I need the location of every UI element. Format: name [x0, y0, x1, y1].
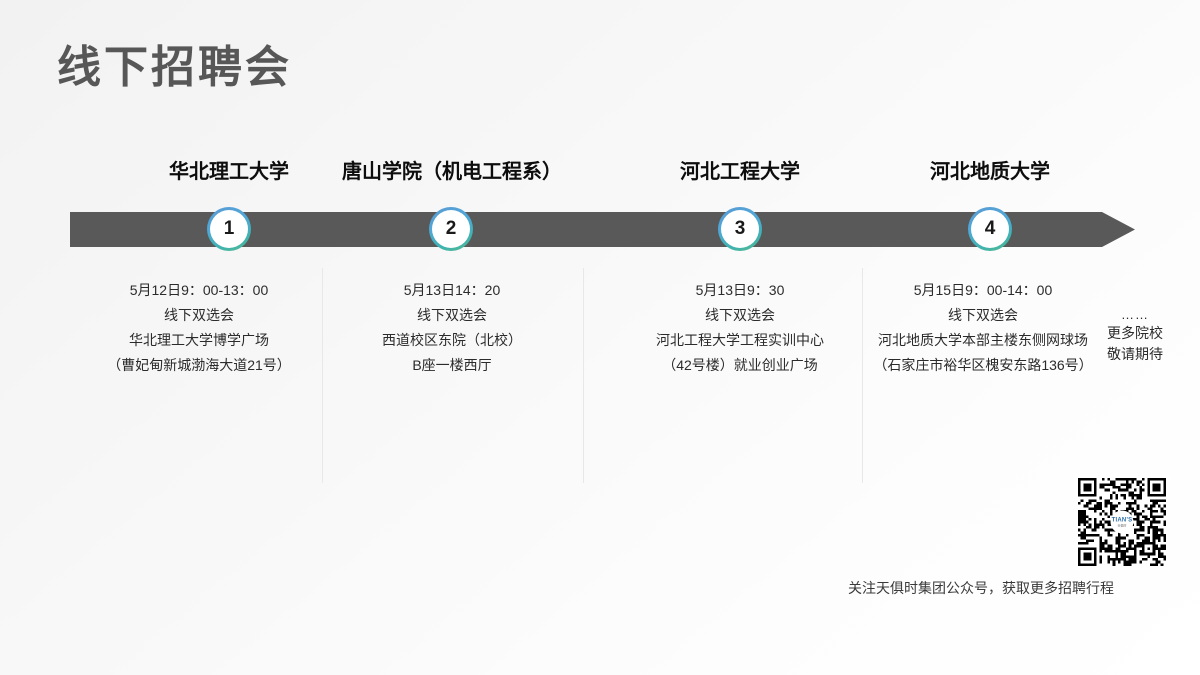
event-venue-2: 西道校区东院（北校） — [382, 328, 522, 353]
event-address-1: （曹妃甸新城渤海大道21号） — [107, 353, 291, 378]
school-heading-4: 河北地质大学 — [930, 155, 1050, 184]
qr-caption: 关注天俱时集团公众号，获取更多招聘行程 — [848, 578, 1114, 598]
timeline-step-marker-1[interactable]: 1 — [207, 207, 251, 251]
event-datetime-4: 5月15日9：00-14：00 — [873, 278, 1092, 303]
event-address-2: B座一楼西厅 — [382, 353, 522, 378]
school-heading-2: 唐山学院（机电工程系） — [342, 155, 562, 184]
qr-logo-secondary: 天俱时 — [1117, 524, 1126, 527]
event-type-3: 线下双选会 — [656, 303, 824, 328]
ellipsis-dots: …… — [1107, 307, 1163, 323]
school-heading-3: 河北工程大学 — [680, 155, 800, 184]
event-type-1: 线下双选会 — [107, 303, 291, 328]
event-datetime-3: 5月13日9：30 — [656, 278, 824, 303]
column-divider-3 — [862, 268, 863, 483]
event-datetime-1: 5月12日9：00-13：00 — [107, 278, 291, 303]
event-address-3: （42号楼）就业创业广场 — [656, 353, 824, 378]
event-type-2: 线下双选会 — [382, 303, 522, 328]
timeline-step-marker-3[interactable]: 3 — [718, 207, 762, 251]
timeline-step-number-1: 1 — [224, 218, 235, 240]
qr-center-logo: TIAN'S 天俱时 — [1111, 511, 1134, 534]
event-datetime-2: 5月13日14：20 — [382, 278, 522, 303]
slide-canvas: 线下招聘会 华北理工大学 唐山学院（机电工程系） 河北工程大学 河北地质大学 1… — [0, 0, 1200, 675]
event-details-4: 5月15日9：00-14：00 线下双选会 河北地质大学本部主楼东侧网球场 （石… — [873, 278, 1092, 378]
timeline-step-marker-2[interactable]: 2 — [429, 207, 473, 251]
timeline-step-number-3: 3 — [735, 218, 746, 240]
event-details-1: 5月12日9：00-13：00 线下双选会 华北理工大学博学广场 （曹妃甸新城渤… — [107, 278, 291, 378]
qr-code[interactable]: TIAN'S 天俱时 — [1074, 474, 1170, 570]
event-venue-3: 河北工程大学工程实训中心 — [656, 328, 824, 353]
qr-logo-primary: TIAN'S — [1112, 517, 1133, 523]
event-venue-4: 河北地质大学本部主楼东侧网球场 — [873, 328, 1092, 353]
school-heading-1: 华北理工大学 — [169, 155, 289, 184]
event-details-3: 5月13日9：30 线下双选会 河北工程大学工程实训中心 （42号楼）就业创业广… — [656, 278, 824, 378]
more-schools-line-2: 敬请期待 — [1107, 346, 1163, 362]
timeline-step-number-2: 2 — [446, 218, 457, 240]
more-schools-line-1: 更多院校 — [1107, 325, 1163, 341]
page-title: 线下招聘会 — [57, 43, 292, 94]
event-venue-1: 华北理工大学博学广场 — [107, 328, 291, 353]
event-address-4: （石家庄市裕华区槐安东路136号） — [873, 353, 1092, 378]
timeline-step-number-4: 4 — [985, 218, 996, 240]
more-schools-note: …… 更多院校 敬请期待 — [1107, 307, 1163, 365]
event-details-2: 5月13日14：20 线下双选会 西道校区东院（北校） B座一楼西厅 — [382, 278, 522, 378]
column-divider-1 — [322, 268, 323, 483]
timeline-step-marker-4[interactable]: 4 — [968, 207, 1012, 251]
column-divider-2 — [583, 268, 584, 483]
event-type-4: 线下双选会 — [873, 303, 1092, 328]
